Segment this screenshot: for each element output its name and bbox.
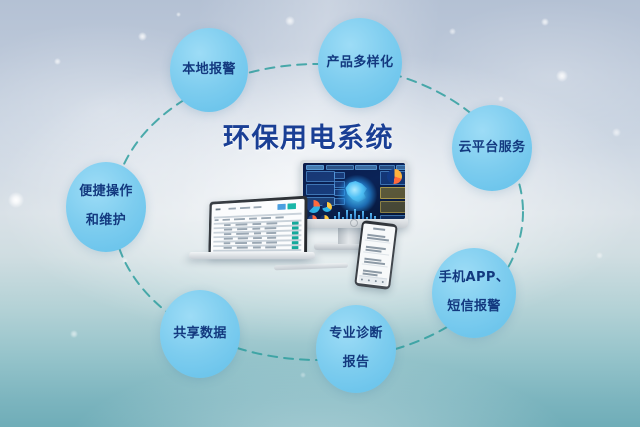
- node-local-alarm[interactable]: 本地报警: [170, 28, 248, 112]
- phone-list-item: [363, 243, 390, 255]
- dashboard-donut-left-2: [322, 202, 332, 212]
- node-easy-maintenance[interactable]: 便捷操作 和维护: [66, 162, 146, 252]
- laptop-lid: [208, 196, 307, 257]
- monitor-logo: [350, 219, 358, 227]
- desktop-monitor: [300, 160, 408, 228]
- poster-canvas: 本地报警 产品多样化 云平台服务 手机APP、 短信报警 专业诊断 报告 共享数…: [0, 0, 640, 427]
- node-diagnostic-report[interactable]: 专业诊断 报告: [316, 305, 396, 393]
- monitor-screen: [303, 163, 405, 219]
- phone-title-line: [373, 227, 385, 230]
- node-label: 专业诊断 报告: [325, 327, 387, 371]
- node-mobile-app-sms[interactable]: 手机APP、 短信报警: [432, 248, 516, 338]
- phone-screen: [356, 223, 395, 286]
- dashboard-gauge-right: [387, 169, 402, 184]
- node-cloud-platform[interactable]: 云平台服务: [452, 105, 532, 191]
- device-cluster: [190, 160, 435, 310]
- node-label-line: 和维护: [77, 214, 135, 229]
- node-label-line: 报告: [327, 356, 385, 371]
- laptop-base: [188, 252, 316, 259]
- laptop-screen: [211, 199, 305, 255]
- phone-list-item: [365, 232, 392, 244]
- node-label: 手机APP、 短信报警: [435, 271, 514, 315]
- node-label: 产品多样化: [324, 56, 395, 71]
- node-label: 本地报警: [180, 63, 238, 78]
- node-label-line: 专业诊断: [327, 327, 385, 342]
- node-label-line: 便捷操作: [77, 185, 135, 200]
- laptop: [190, 195, 310, 267]
- dashboard-china-map: [337, 175, 377, 211]
- dashboard-bar-chart: [334, 207, 378, 219]
- node-label: 共享数据: [171, 327, 229, 342]
- poster-title: 环保用电系统: [223, 116, 394, 155]
- node-product-diversity[interactable]: 产品多样化: [318, 18, 402, 108]
- node-label-line: 手机APP、: [437, 271, 512, 286]
- node-label-line: 短信报警: [437, 300, 512, 315]
- smartphone: [354, 220, 398, 290]
- node-label: 云平台服务: [456, 141, 527, 156]
- phone-list-item: [362, 255, 389, 267]
- node-label: 便捷操作 和维护: [75, 185, 137, 229]
